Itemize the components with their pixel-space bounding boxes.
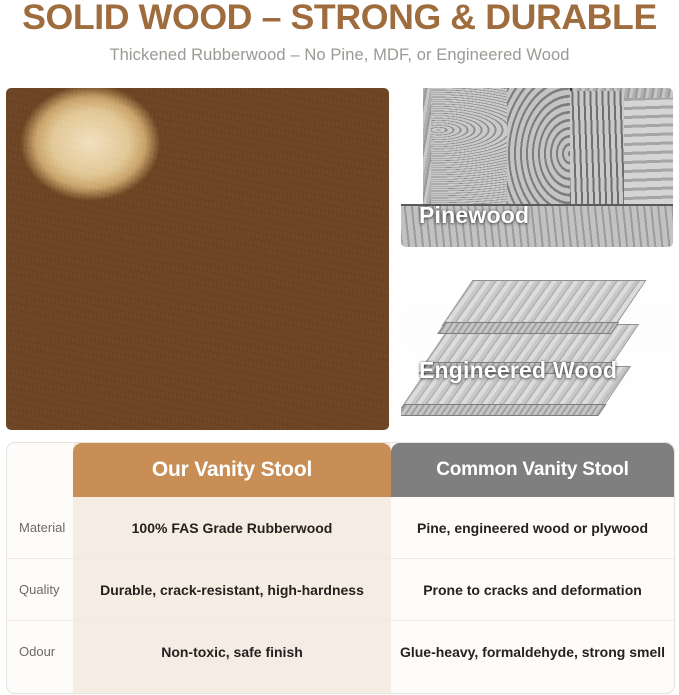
cell-common-odour: Glue-heavy, formaldehyde, strong smell [391, 644, 674, 660]
engineered-board-top [441, 280, 646, 326]
engineered-wood-photo: Engineered Wood [401, 266, 673, 430]
our-vanity-stool-header: Our Vanity Stool [73, 443, 391, 497]
table-row: Material 100% FAS Grade Rubberwood Pine,… [7, 497, 674, 559]
pinewood-photo: Pinewood [401, 88, 673, 247]
cell-common-material: Pine, engineered wood or plywood [391, 520, 674, 536]
comparison-table: Our Vanity Stool Common Vanity Stool Mat… [6, 442, 675, 694]
attribute-header-cell [7, 443, 73, 497]
table-row: Quality Durable, crack-resistant, high-h… [7, 559, 674, 621]
table-row: Odour Non-toxic, safe finish Glue-heavy,… [7, 621, 674, 682]
engineered-wood-caption: Engineered Wood [419, 357, 617, 384]
page-title: SOLID WOOD – STRONG & DURABLE [0, 0, 679, 38]
pinewood-caption: Pinewood [419, 202, 529, 229]
row-label-material: Material [7, 520, 73, 535]
row-label-odour: Odour [7, 644, 73, 659]
logs-photo [6, 88, 389, 430]
comparison-header-row: Our Vanity Stool Common Vanity Stool [7, 443, 674, 497]
product-feature-panel: SOLID WOOD – STRONG & DURABLE Thickened … [0, 0, 679, 695]
cell-common-quality: Prone to cracks and deformation [391, 582, 674, 598]
image-gallery: Pinewood Engineered Wood [6, 88, 673, 430]
board-edge [437, 322, 619, 334]
cell-ours-quality: Durable, crack-resistant, high-hardness [73, 582, 391, 598]
page-subtitle: Thickened Rubberwood – No Pine, MDF, or … [0, 46, 679, 65]
cell-ours-odour: Non-toxic, safe finish [73, 644, 391, 660]
comparison-body: Material 100% FAS Grade Rubberwood Pine,… [7, 497, 674, 682]
row-label-quality: Quality [7, 582, 73, 597]
board-edge [401, 404, 607, 416]
common-vanity-stool-header: Common Vanity Stool [391, 443, 674, 497]
cell-ours-material: 100% FAS Grade Rubberwood [73, 520, 391, 536]
